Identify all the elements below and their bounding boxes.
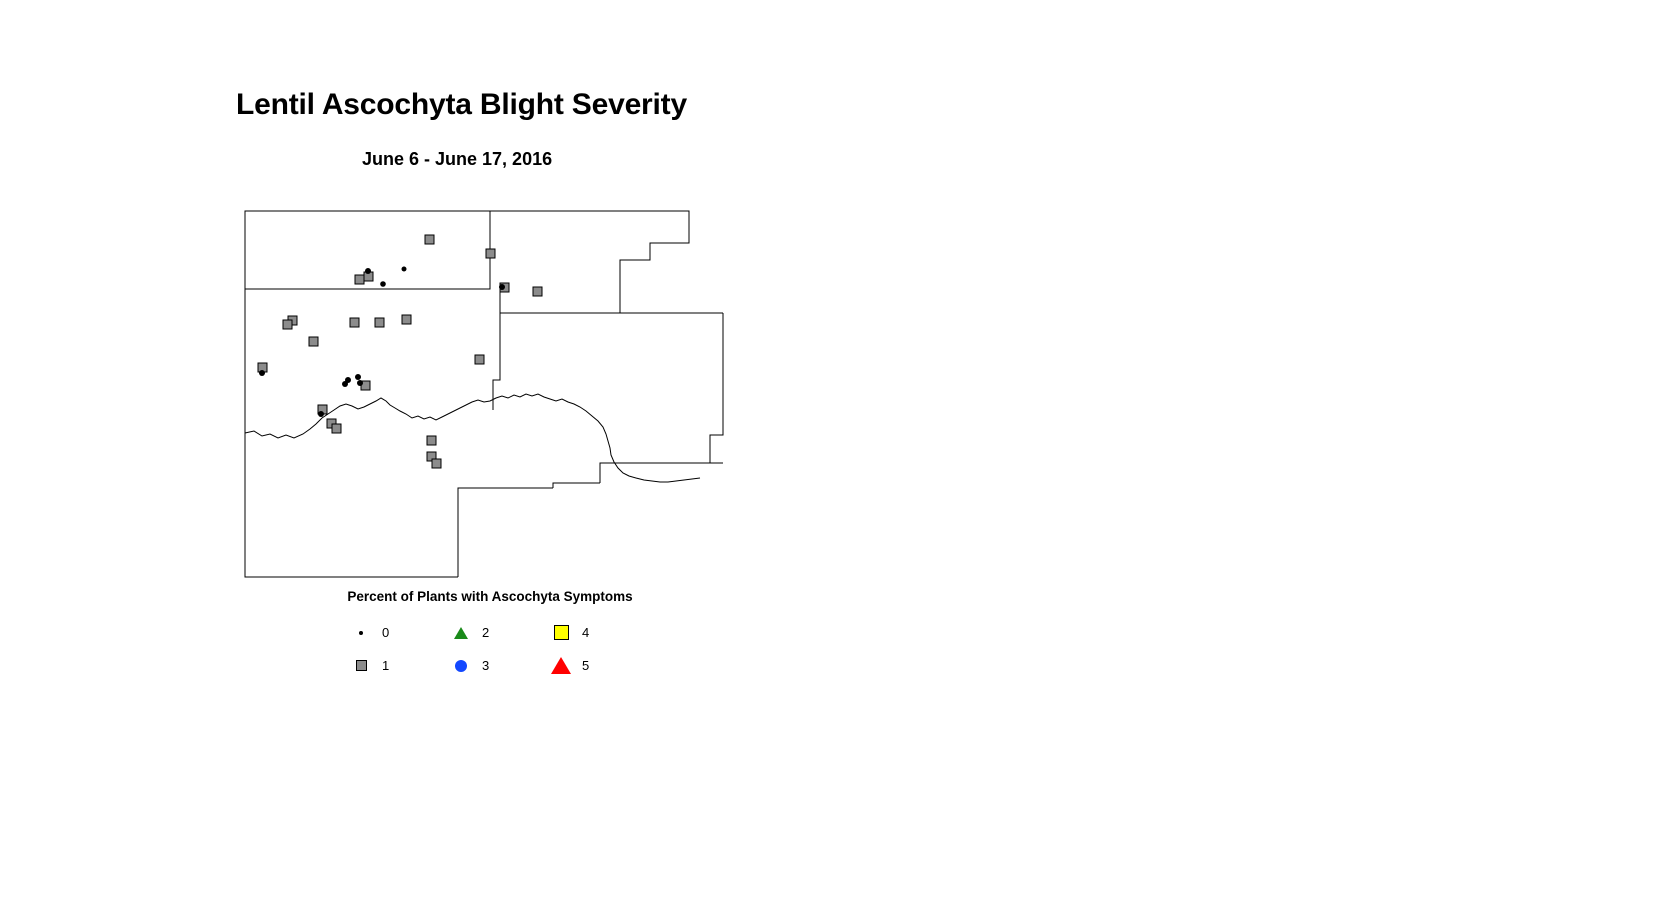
square-marker-icon <box>548 625 574 640</box>
square-marker-icon <box>348 660 374 671</box>
legend-row-bottom: 1 3 5 <box>348 649 648 682</box>
circle-marker-icon <box>448 660 474 672</box>
legend-item-label: 2 <box>474 626 489 639</box>
figure-root: Lentil Ascochyta Blight Severity June 6 … <box>0 0 1673 900</box>
legend-item-1[interactable]: 1 <box>348 659 448 672</box>
legend-item-3[interactable]: 3 <box>448 659 548 672</box>
triangle-up-marker-icon <box>448 627 474 639</box>
legend-item-label: 4 <box>574 626 589 639</box>
legend-title: Percent of Plants with Ascochyta Symptom… <box>240 590 740 604</box>
legend-item-5[interactable]: 5 <box>548 657 648 674</box>
river-boundary <box>245 394 700 482</box>
map-panel <box>240 205 740 590</box>
legend-item-2[interactable]: 2 <box>448 626 548 639</box>
legend-item-4[interactable]: 4 <box>548 625 648 640</box>
legend-item-label: 1 <box>374 659 389 672</box>
legend-grid: 0 2 4 <box>348 616 648 682</box>
triangle-up-marker-icon <box>548 657 574 674</box>
page-subtitle: June 6 - June 17, 2016 <box>362 150 552 168</box>
county-boundaries <box>245 211 723 577</box>
dot-marker-icon <box>348 631 374 635</box>
legend: Percent of Plants with Ascochyta Symptom… <box>240 590 740 685</box>
legend-row-top: 0 2 4 <box>348 616 648 649</box>
page-title: Lentil Ascochyta Blight Severity <box>236 90 687 120</box>
legend-item-label: 5 <box>574 659 589 672</box>
markers-severity-1 <box>258 235 542 468</box>
legend-item-0[interactable]: 0 <box>348 626 448 639</box>
legend-item-label: 0 <box>374 626 389 639</box>
map-svg <box>240 205 740 590</box>
legend-item-label: 3 <box>474 659 489 672</box>
